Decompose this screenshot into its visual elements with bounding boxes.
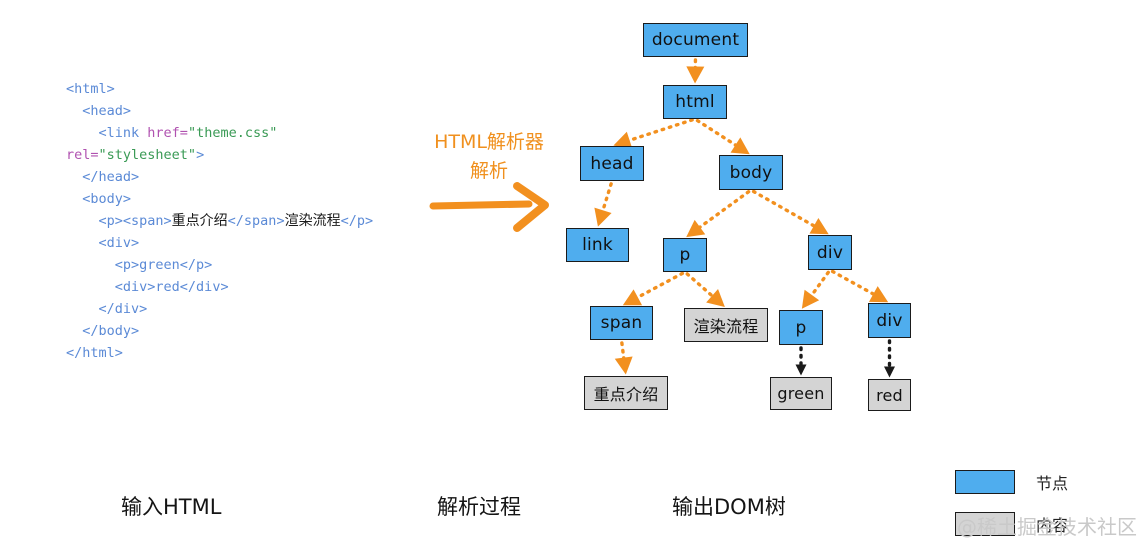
- code-line: <head>: [66, 100, 436, 122]
- tree-edge-div2-to-text-red: [884, 341, 895, 378]
- tree-node-label: div: [876, 311, 902, 331]
- code-token-txt: 重点介绍: [172, 213, 228, 229]
- tree-node-label: p: [680, 245, 691, 265]
- code-line: <body>: [66, 188, 436, 210]
- tree-node-label: green: [777, 384, 824, 403]
- tree-edge-p1-to-text-render: [687, 274, 725, 307]
- caption-process: 解析过程: [437, 491, 521, 521]
- tree-node-label: head: [590, 154, 633, 174]
- tree-node-div2: div: [868, 303, 911, 338]
- arrowhead-icon: [706, 289, 725, 307]
- code-token-tag: </p>: [341, 213, 374, 229]
- code-token-plain: [66, 213, 99, 229]
- parser-label-line1: HTML解析器: [404, 128, 574, 157]
- code-line: </body>: [66, 320, 436, 342]
- code-line: </div>: [66, 298, 436, 320]
- tree-node-document: document: [643, 23, 748, 57]
- code-token-tag: </head>: [82, 169, 139, 185]
- code-token-tag: <body>: [82, 191, 131, 207]
- arrowhead-icon: [869, 286, 888, 302]
- tree-node-label: 重点介绍: [594, 381, 659, 405]
- code-token-tag: <p>green</p>: [115, 257, 213, 273]
- caption-output: 输出DOM树: [672, 491, 786, 521]
- code-token-plain: [66, 125, 99, 141]
- arrowhead-icon: [731, 137, 750, 154]
- tree-node-label: span: [601, 313, 643, 333]
- arrowhead-icon: [615, 357, 633, 375]
- arrowhead-icon: [686, 220, 705, 237]
- code-line: <link href="theme.css": [66, 122, 436, 144]
- code-token-tag: <div>red</div>: [115, 279, 229, 295]
- code-token-tag: >: [196, 147, 204, 163]
- tree-node-label: div: [817, 243, 843, 263]
- code-token-tag: <html>: [66, 81, 115, 97]
- code-token-attr: href=: [147, 125, 188, 141]
- code-token-plain: [66, 169, 82, 185]
- arrowhead-icon: [884, 367, 895, 378]
- code-token-val: "stylesheet": [99, 147, 197, 163]
- code-line: <p>green</p>: [66, 254, 436, 276]
- code-token-plain: [66, 279, 115, 295]
- tree-edge-body-to-div1: [754, 191, 829, 234]
- tree-node-label: html: [675, 92, 715, 112]
- code-line: </html>: [66, 342, 436, 364]
- legend-row-content: 内容: [955, 512, 1068, 536]
- tree-edge-body-to-p1: [686, 192, 748, 237]
- code-token-tag: </span>: [228, 213, 285, 229]
- code-token-tag: </body>: [82, 323, 139, 339]
- code-token-plain: [66, 103, 82, 119]
- tree-node-head: head: [580, 146, 644, 181]
- tree-node-label: body: [730, 163, 773, 183]
- code-line: rel="stylesheet">: [66, 144, 436, 166]
- tree-edge-head-to-link: [594, 184, 611, 227]
- diagram-canvas: <html> <head> <link href="theme.css"rel=…: [0, 0, 1142, 555]
- tree-node-label: link: [582, 235, 613, 255]
- tree-edge-p2-to-text-green: [796, 348, 807, 376]
- tree-node-label: 渲染流程: [694, 313, 759, 337]
- code-token-tag: </html>: [66, 345, 123, 361]
- arrowhead-icon: [809, 218, 828, 234]
- code-line: <html>: [66, 78, 436, 100]
- code-token-plain: [66, 257, 115, 273]
- tree-node-text-keypoint: 重点介绍: [584, 376, 668, 410]
- code-token-tag: <head>: [82, 103, 131, 119]
- code-token-plain: [66, 301, 99, 317]
- code-line: <div>: [66, 232, 436, 254]
- code-token-tag: <link: [99, 125, 148, 141]
- tree-edge-p1-to-span: [623, 273, 683, 305]
- code-line: </head>: [66, 166, 436, 188]
- code-line: <p><span>重点介绍</span>渲染流程</p>: [66, 210, 436, 232]
- code-token-plain: [66, 191, 82, 207]
- tree-node-div1: div: [808, 235, 852, 270]
- tree-node-p1: p: [663, 238, 707, 272]
- tree-edge-html-to-head: [613, 120, 692, 149]
- tree-edge-html-to-body: [698, 121, 750, 155]
- tree-edge-div1-to-p2: [802, 272, 828, 308]
- arrowhead-icon: [686, 66, 704, 83]
- tree-node-label: document: [652, 30, 739, 50]
- tree-edge-div1-to-div2: [833, 271, 889, 302]
- tree-node-label: red: [876, 386, 903, 405]
- legend-label-content: 内容: [1036, 512, 1068, 536]
- code-token-tag: </div>: [99, 301, 148, 317]
- tree-node-text-red: red: [868, 379, 911, 411]
- code-token-txt: 渲染流程: [285, 213, 341, 229]
- tree-node-p2: p: [779, 310, 823, 345]
- arrowhead-icon: [623, 289, 642, 305]
- legend-swatch-node: [955, 470, 1015, 494]
- tree-node-text-green: green: [770, 377, 832, 410]
- arrowhead-icon: [796, 365, 807, 376]
- legend-swatch-content: [955, 512, 1015, 536]
- tree-node-label: p: [796, 318, 807, 338]
- legend-row-node: 节点: [955, 470, 1068, 494]
- tree-node-html: html: [663, 85, 727, 119]
- tree-node-body: body: [719, 155, 783, 190]
- code-token-plain: [66, 323, 82, 339]
- code-token-attr: rel=: [66, 147, 99, 163]
- tree-edge-document-to-html: [686, 60, 704, 84]
- code-token-plain: [66, 235, 99, 251]
- code-token-val: "theme.css": [188, 125, 277, 141]
- caption-input: 输入HTML: [121, 491, 221, 521]
- tree-node-span: span: [590, 306, 653, 340]
- code-token-tag: <div>: [99, 235, 140, 251]
- tree-node-link: link: [566, 228, 629, 262]
- parse-arrow-icon: [425, 178, 565, 236]
- tree-edge-span-to-text-keypoint: [615, 343, 633, 375]
- arrowhead-icon: [594, 208, 611, 227]
- arrowhead-icon: [802, 290, 819, 309]
- code-line: <div>red</div>: [66, 276, 436, 298]
- tree-node-text-render: 渲染流程: [684, 308, 768, 342]
- html-source-code: <html> <head> <link href="theme.css"rel=…: [66, 78, 436, 364]
- legend-label-node: 节点: [1036, 470, 1068, 494]
- code-token-tag: <p><span>: [99, 213, 172, 229]
